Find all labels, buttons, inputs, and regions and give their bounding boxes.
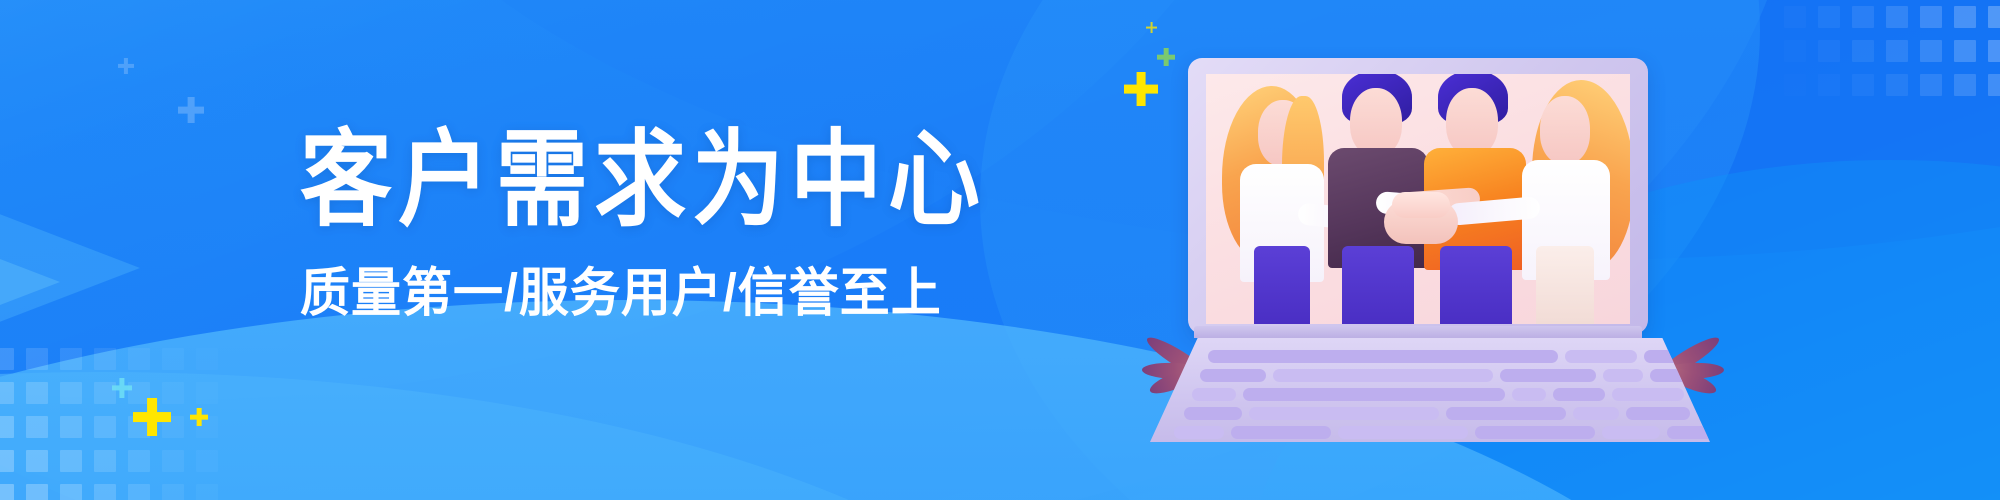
plus-icon xyxy=(190,408,208,426)
person-woman-right xyxy=(1506,74,1630,324)
laptop-keyboard-base xyxy=(1150,338,1710,442)
laptop-hinge xyxy=(1194,326,1642,338)
head xyxy=(1540,96,1590,164)
plus-icon xyxy=(118,58,134,74)
laptop-illustration xyxy=(1150,58,1710,448)
legs xyxy=(1536,246,1594,324)
laptop-lid xyxy=(1188,58,1648,334)
head xyxy=(1350,88,1402,156)
head xyxy=(1446,88,1498,156)
plus-icon xyxy=(112,378,132,398)
page-subtitle: 质量第一/服务用户/信誉至上 xyxy=(300,220,1020,319)
plus-icon xyxy=(178,97,204,123)
legs xyxy=(1440,246,1512,324)
promo-banner: 客户需求为中心 质量第一/服务用户/信誉至上 xyxy=(0,0,2000,500)
laptop-screen xyxy=(1206,74,1630,324)
page-title: 客户需求为中心 xyxy=(300,128,1020,233)
dot-grid-top-right xyxy=(1784,0,2000,96)
stacked-hands-top xyxy=(1392,192,1450,218)
legs xyxy=(1254,246,1310,324)
dot-grid-bottom-left xyxy=(0,348,218,500)
legs xyxy=(1342,246,1414,324)
copy-block: 客户需求为中心 质量第一/服务用户/信誉至上 xyxy=(300,128,1020,314)
plus-icon xyxy=(1146,22,1157,33)
plus-icon xyxy=(133,398,171,436)
